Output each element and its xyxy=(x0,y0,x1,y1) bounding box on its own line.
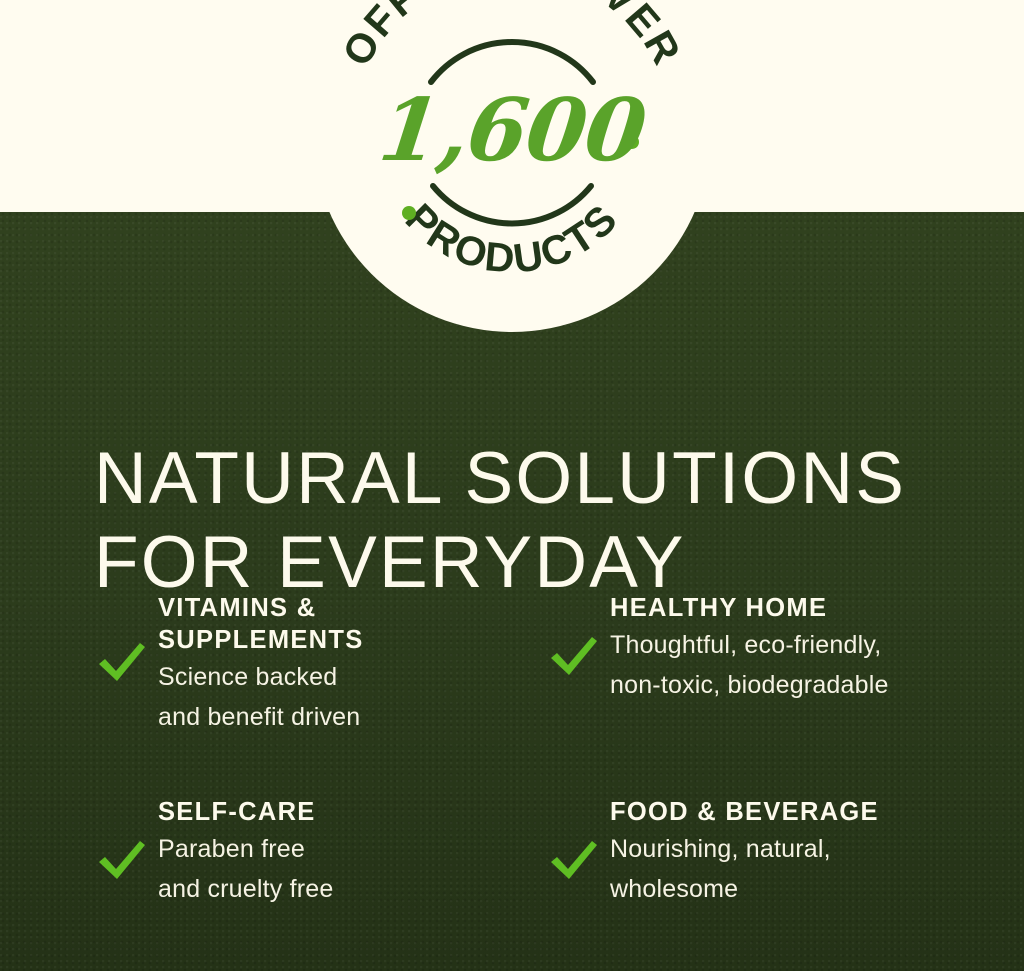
check-icon xyxy=(96,838,148,884)
seal-inner-arc-top xyxy=(431,42,593,82)
feature-description: Thoughtful, eco-friendly, non-toxic, bio… xyxy=(610,625,988,705)
feature-item-self-care: SELF-CARE Paraben free and cruelty free xyxy=(88,796,540,909)
seal-bottom-arc-text: PRODUCTS xyxy=(397,195,627,282)
feature-title-line-1: VITAMINS & xyxy=(158,594,316,622)
seal-inner-arc-bottom xyxy=(433,186,591,223)
seal-dot-left xyxy=(402,206,416,220)
feature-item-healthy-home: HEALTHY HOME Thoughtful, eco-friendly, n… xyxy=(540,592,988,796)
check-icon xyxy=(548,838,600,884)
feature-desc-line-2: and cruelty free xyxy=(158,869,540,909)
feature-title: VITAMINS & SUPPLEMENTS xyxy=(158,592,540,656)
check-icon xyxy=(96,640,148,686)
page-title: NATURAL SOLUTIONS FOR EVERYDAY xyxy=(94,437,974,605)
feature-title-line-1: SELF-CARE xyxy=(158,798,316,826)
feature-title: FOOD & BEVERAGE xyxy=(610,796,988,828)
feature-desc-line-2: wholesome xyxy=(610,869,988,909)
promotional-poster: OFFERING OVER PRODUCTS 1,600 NATURAL SOL… xyxy=(0,0,1024,971)
feature-list: VITAMINS & SUPPLEMENTS Science backed an… xyxy=(88,592,988,909)
feature-item-vitamins-supplements: VITAMINS & SUPPLEMENTS Science backed an… xyxy=(88,592,540,796)
feature-desc-line-1: Nourishing, natural, xyxy=(610,829,988,869)
seal-top-arc-text: OFFERING OVER xyxy=(333,0,690,73)
feature-desc-line-1: Science backed xyxy=(158,657,540,697)
feature-desc-line-2: non-toxic, biodegradable xyxy=(610,665,988,705)
feature-desc-line-1: Paraben free xyxy=(158,829,540,869)
feature-desc-line-1: Thoughtful, eco-friendly, xyxy=(610,625,988,665)
feature-desc-line-2: and benefit driven xyxy=(158,697,540,737)
feature-description: Nourishing, natural, wholesome xyxy=(610,829,988,909)
feature-description: Paraben free and cruelty free xyxy=(158,829,540,909)
seal-artwork: OFFERING OVER PRODUCTS xyxy=(313,0,711,332)
feature-title: HEALTHY HOME xyxy=(610,592,988,624)
feature-item-food-beverage: FOOD & BEVERAGE Nourishing, natural, who… xyxy=(540,796,988,909)
feature-title-line-1: FOOD & BEVERAGE xyxy=(610,798,879,826)
feature-title-line-1: HEALTHY HOME xyxy=(610,594,827,622)
feature-title: SELF-CARE xyxy=(158,796,540,828)
headline-line-1: NATURAL SOLUTIONS xyxy=(94,437,974,521)
check-icon xyxy=(548,634,600,680)
feature-description: Science backed and benefit driven xyxy=(158,657,540,737)
seal-dot-right xyxy=(625,135,639,149)
feature-title-line-2: SUPPLEMENTS xyxy=(158,626,364,654)
